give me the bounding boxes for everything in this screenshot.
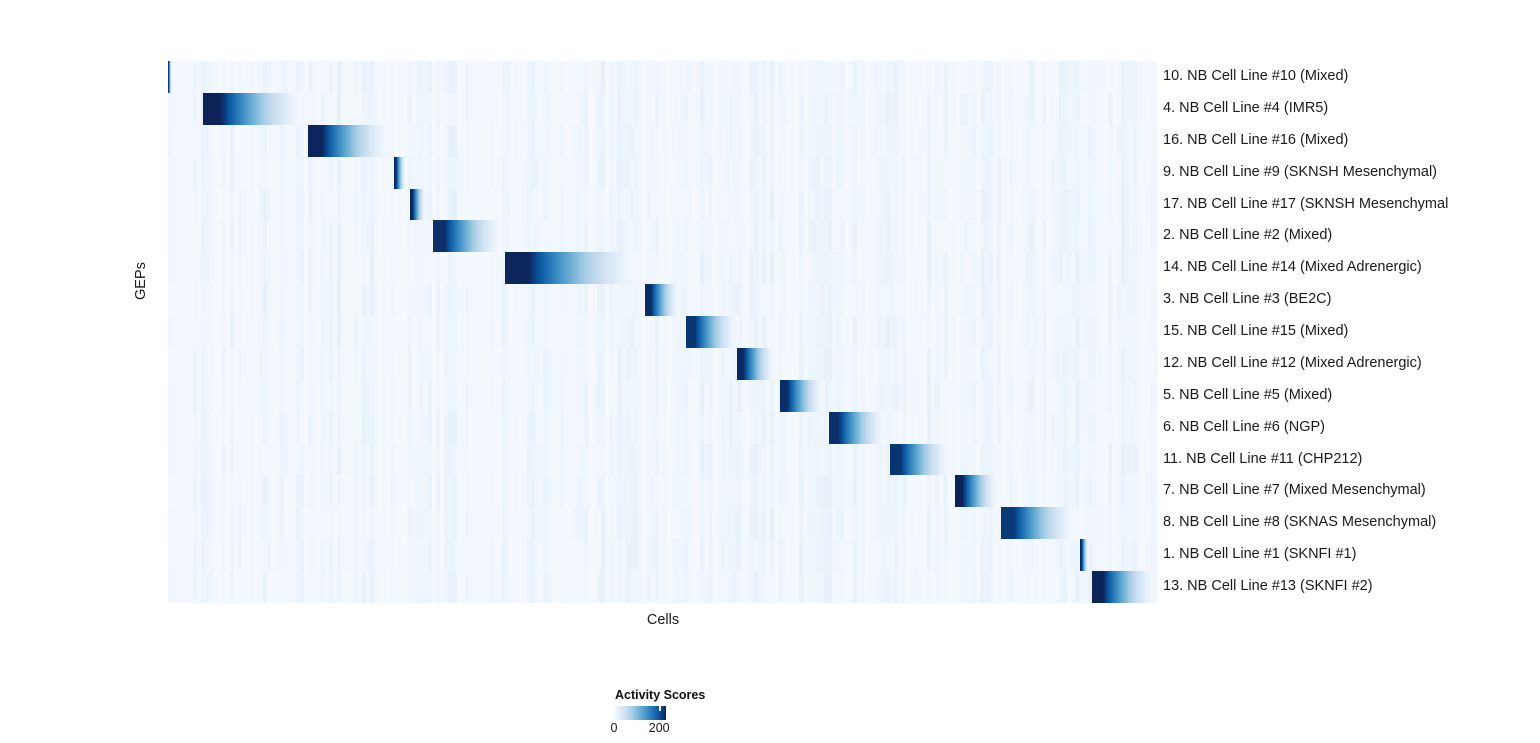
heatmap-grid <box>168 61 1158 603</box>
row-label: 14. NB Cell Line #14 (Mixed Adrenergic) <box>1163 252 1538 284</box>
colorbar-tick-label: 0 <box>611 721 618 735</box>
row-label: 3. NB Cell Line #3 (BE2C) <box>1163 284 1538 316</box>
colorbar-gradient <box>614 706 666 720</box>
row-label: 9. NB Cell Line #9 (SKNSH Mesenchymal) <box>1163 157 1538 189</box>
heatmap-row <box>168 380 1158 412</box>
heatmap-activity-block <box>890 444 953 476</box>
row-label: 8. NB Cell Line #8 (SKNAS Mesenchymal) <box>1163 507 1538 539</box>
heatmap-row-background <box>168 189 1158 221</box>
heatmap-row <box>168 475 1158 507</box>
heatmap-row <box>168 316 1158 348</box>
colorbar: Activity Scores 0200 <box>614 688 814 737</box>
heatmap-activity-block <box>645 284 681 316</box>
heatmap-row <box>168 125 1158 157</box>
heatmap-row-background <box>168 412 1158 444</box>
heatmap-activity-block <box>168 61 172 93</box>
heatmap-activity-block <box>829 412 887 444</box>
heatmap-row <box>168 93 1158 125</box>
heatmap-activity-block <box>308 125 393 157</box>
row-label: 1. NB Cell Line #1 (SKNFI #1) <box>1163 539 1538 571</box>
heatmap-activity-block <box>203 93 308 125</box>
heatmap-row <box>168 444 1158 476</box>
heatmap-activity-block <box>737 348 776 380</box>
heatmap-row <box>168 189 1158 221</box>
heatmap-row-background <box>168 571 1158 603</box>
y-axis-label: GEPs <box>133 262 149 300</box>
heatmap-row <box>168 220 1158 252</box>
heatmap-row-background <box>168 316 1158 348</box>
heatmap-activity-block <box>410 189 427 221</box>
row-label: 12. NB Cell Line #12 (Mixed Adrenergic) <box>1163 348 1538 380</box>
heatmap-row <box>168 157 1158 189</box>
colorbar-title: Activity Scores <box>615 688 814 702</box>
heatmap-row-background <box>168 252 1158 284</box>
heatmap-row <box>168 61 1158 93</box>
row-label: 10. NB Cell Line #10 (Mixed) <box>1163 61 1538 93</box>
heatmap-row <box>168 571 1158 603</box>
heatmap-activity-block <box>433 220 504 252</box>
heatmap-activity-block <box>1080 539 1089 571</box>
heatmap-activity-block <box>955 475 1000 507</box>
x-axis-label: Cells <box>168 612 1158 628</box>
heatmap-row-background <box>168 220 1158 252</box>
heatmap-activity-block <box>1001 507 1079 539</box>
heatmap-row <box>168 507 1158 539</box>
colorbar-tick <box>614 706 615 711</box>
row-label: 15. NB Cell Line #15 (Mixed) <box>1163 316 1538 348</box>
heatmap-row-background <box>168 348 1158 380</box>
heatmap-row <box>168 412 1158 444</box>
row-label: 4. NB Cell Line #4 (IMR5) <box>1163 93 1538 125</box>
heatmap-row-background <box>168 61 1158 93</box>
heatmap-activity-block <box>505 252 646 284</box>
row-label: 5. NB Cell Line #5 (Mixed) <box>1163 380 1538 412</box>
colorbar-tick-labels: 0200 <box>614 721 666 737</box>
heatmap-activity-block <box>686 316 740 348</box>
heatmap-row <box>168 539 1158 571</box>
heatmap-row-background <box>168 157 1158 189</box>
row-label: 6. NB Cell Line #6 (NGP) <box>1163 412 1538 444</box>
row-label: 11. NB Cell Line #11 (CHP212) <box>1163 444 1538 476</box>
colorbar-tick <box>659 706 660 711</box>
row-label: 16. NB Cell Line #16 (Mixed) <box>1163 125 1538 157</box>
heatmap-row <box>168 252 1158 284</box>
row-label-list: 10. NB Cell Line #10 (Mixed)4. NB Cell L… <box>1163 61 1538 603</box>
row-label: 13. NB Cell Line #13 (SKNFI #2) <box>1163 571 1538 603</box>
colorbar-tick-label: 200 <box>649 721 670 735</box>
row-label: 2. NB Cell Line #2 (Mixed) <box>1163 220 1538 252</box>
heatmap-activity-block <box>780 380 826 412</box>
heatmap-activity-block <box>1092 571 1158 603</box>
heatmap-activity-block <box>394 157 406 189</box>
heatmap-row-background <box>168 93 1158 125</box>
heatmap-row <box>168 348 1158 380</box>
heatmap-figure: GEPs Cells 10. NB Cell Line #10 (Mixed)4… <box>0 0 1540 743</box>
heatmap-row-background <box>168 475 1158 507</box>
heatmap-row <box>168 284 1158 316</box>
heatmap-row-background <box>168 380 1158 412</box>
heatmap-row-background <box>168 539 1158 571</box>
heatmap-row-background <box>168 444 1158 476</box>
colorbar-gradient-bar <box>614 706 666 720</box>
row-label: 17. NB Cell Line #17 (SKNSH Mesenchymal <box>1163 189 1538 221</box>
row-label: 7. NB Cell Line #7 (Mixed Mesenchymal) <box>1163 475 1538 507</box>
